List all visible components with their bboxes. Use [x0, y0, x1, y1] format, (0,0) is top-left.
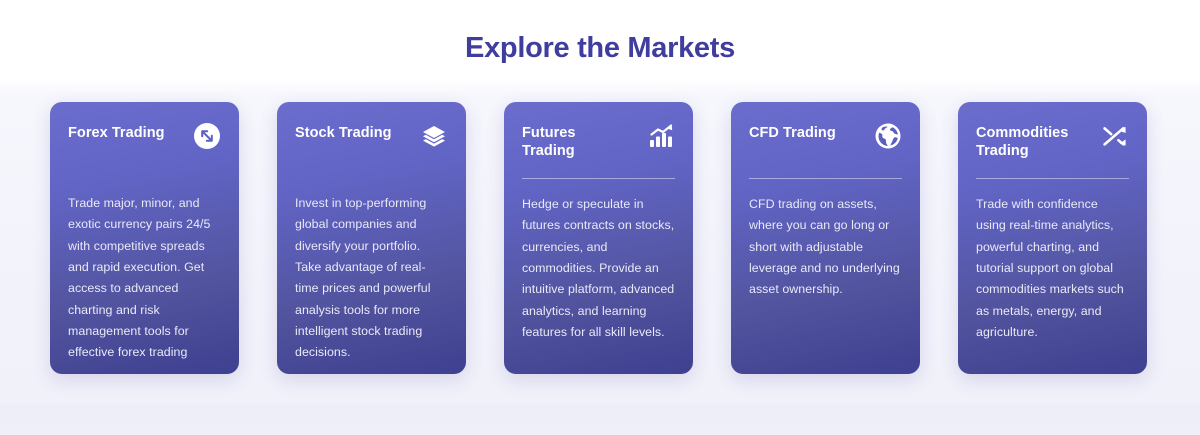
page-title: Explore the Markets — [0, 0, 1200, 65]
card-description: Hedge or speculate in futures contracts … — [522, 194, 675, 343]
card-description: Invest in top-performing global companie… — [295, 193, 448, 364]
card-title: Forex Trading — [68, 124, 165, 143]
card-divider — [522, 178, 675, 179]
card-header: Futures Trading — [522, 124, 675, 166]
market-card-forex-trading[interactable]: Forex Trading Trade major, minor, and ex… — [50, 102, 239, 374]
globe-icon — [874, 122, 902, 150]
card-header: CFD Trading — [749, 124, 902, 166]
card-description: CFD trading on assets, where you can go … — [749, 194, 902, 301]
card-header: Commodities Trading — [976, 124, 1129, 166]
markets-section: Explore the Markets Forex Trading — [0, 0, 1200, 435]
card-header: Forex Trading — [68, 124, 221, 166]
card-header: Stock Trading — [295, 124, 448, 166]
market-card-commodities-trading[interactable]: Commodities Trading — [958, 102, 1147, 374]
market-card-stock-trading[interactable]: Stock Trading Invest in top-performing g… — [277, 102, 466, 374]
card-title: Futures Trading — [522, 124, 576, 160]
market-card-cfd-trading[interactable]: CFD Trading CFD trading on assets, where — [731, 102, 920, 374]
card-description: Trade with confidence using real-time an… — [976, 194, 1129, 343]
market-card-futures-trading[interactable]: Futures Trading — [504, 102, 693, 374]
card-description: Trade major, minor, and exotic currency … — [68, 193, 221, 364]
card-title: Commodities Trading — [976, 124, 1068, 160]
card-title: CFD Trading — [749, 124, 836, 143]
card-divider — [749, 178, 902, 179]
card-divider — [976, 178, 1129, 179]
card-title: Stock Trading — [295, 124, 392, 143]
layers-stack-icon — [420, 122, 448, 150]
shuffle-arrows-icon — [1101, 122, 1129, 150]
market-cards-row: Forex Trading Trade major, minor, and ex… — [50, 102, 1150, 374]
bar-chart-growth-icon — [647, 122, 675, 150]
exchange-arrows-circle-icon — [193, 122, 221, 150]
